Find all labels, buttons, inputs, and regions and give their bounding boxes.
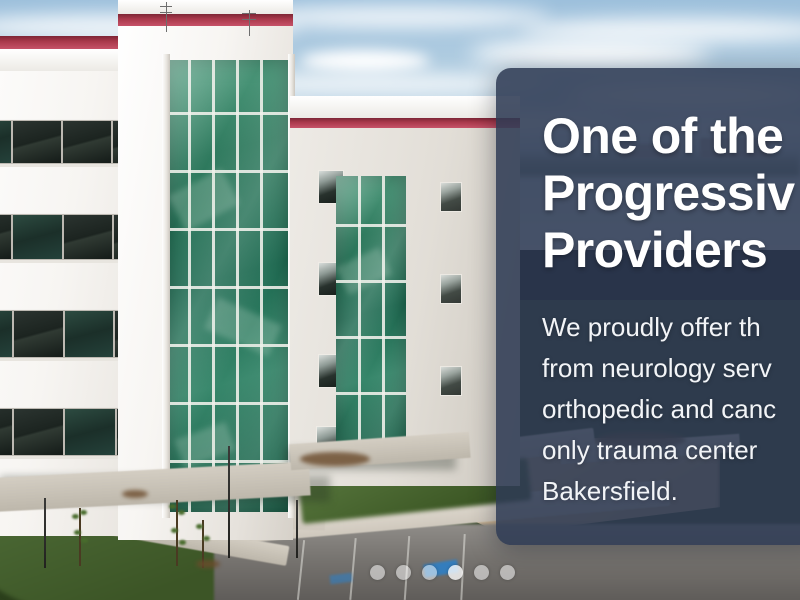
window-pane	[0, 409, 12, 455]
carousel-dot[interactable]	[370, 565, 385, 580]
window-pane	[64, 215, 112, 259]
hero-heading-line: Progressiv	[542, 165, 800, 222]
carousel-dot[interactable]	[500, 565, 515, 580]
parapet	[118, 0, 293, 14]
window-pane	[0, 121, 11, 163]
window-pane	[65, 311, 114, 357]
hero-body-line: We proudly offer th	[542, 307, 800, 348]
window-pane	[0, 311, 12, 357]
glass-curtain-wall	[168, 60, 290, 512]
hero-body-line: Bakersfield.	[542, 471, 800, 512]
window-pane	[13, 215, 61, 259]
window	[440, 274, 462, 304]
planting-bed	[300, 452, 370, 466]
hero-body-line: only trauma center	[542, 430, 800, 471]
sapling	[72, 508, 88, 566]
light-pole	[296, 500, 298, 558]
parapet	[290, 96, 520, 118]
carousel-dot-active[interactable]	[448, 565, 463, 580]
carousel-dot[interactable]	[396, 565, 411, 580]
roof-trim	[290, 118, 520, 128]
light-pole	[228, 446, 230, 558]
hero-heading: One of the Progressiv Providers	[542, 108, 800, 279]
cloud	[300, 50, 430, 72]
window-pane	[0, 215, 11, 259]
curtain-wall-mullion	[162, 54, 170, 518]
hero-body-line: from neurology serv	[542, 348, 800, 389]
hero-text-panel: One of the Progressiv Providers We proud…	[496, 68, 800, 545]
planting-bed	[122, 490, 148, 498]
carousel-indicator-dots[interactable]	[370, 565, 515, 580]
carousel-dot[interactable]	[422, 565, 437, 580]
light-pole	[44, 498, 46, 568]
carousel-dot[interactable]	[474, 565, 489, 580]
planting-bed	[196, 560, 220, 568]
hero-body-line: orthopedic and canc	[542, 389, 800, 430]
window-pane	[65, 409, 114, 455]
cloud	[250, 6, 550, 28]
glass-curtain-wall-secondary	[336, 176, 406, 460]
sapling	[168, 500, 186, 566]
hero-heading-line: Providers	[542, 222, 800, 279]
window-pane	[63, 121, 111, 163]
roof-trim	[118, 14, 293, 26]
building-center-tower	[118, 0, 293, 540]
hero-body-text: We proudly offer th from neurology serv …	[542, 307, 800, 512]
hero-text-content: One of the Progressiv Providers We proud…	[542, 108, 800, 512]
window	[440, 366, 462, 396]
window-pane	[14, 409, 63, 455]
cloud	[470, 40, 710, 68]
hero-slide: One of the Progressiv Providers We proud…	[0, 0, 800, 600]
rooftop-antenna	[242, 10, 256, 36]
window	[440, 182, 462, 212]
hero-heading-line: One of the	[542, 108, 800, 165]
rooftop-antenna	[160, 2, 172, 32]
window-pane	[13, 121, 61, 163]
window-pane	[14, 311, 63, 357]
